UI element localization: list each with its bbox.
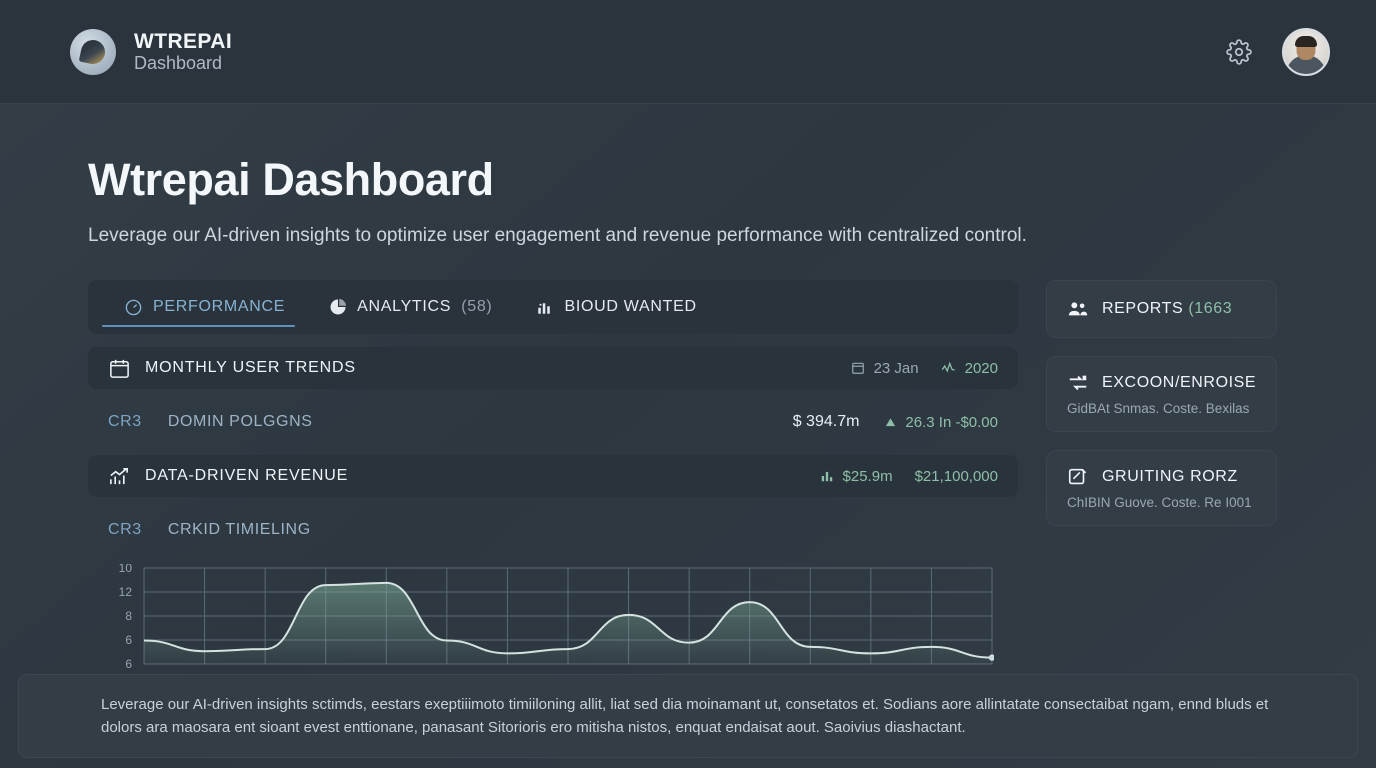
card-excoon-enroise[interactable]: EXCOON/ENROISE GidBAt Snmas. Coste. Bexi…: [1046, 356, 1277, 432]
page-title: Wtrepai Dashboard: [88, 156, 1376, 203]
tab-analytics-label: ANALYTICS: [357, 298, 451, 316]
trending-up-icon: [108, 465, 131, 488]
activity-icon: [941, 361, 956, 376]
exchange-icon: [1067, 372, 1089, 394]
footer-panel: Leverage our AI-driven insights sctimds,…: [18, 674, 1358, 759]
svg-text:6: 6: [125, 633, 132, 647]
row-value-change-text: 26.3 In -$0.00: [905, 414, 998, 431]
row-code: CR3: [108, 413, 142, 431]
tab-analytics[interactable]: ANALYTICS (58): [307, 280, 514, 334]
row-code: CR3: [108, 521, 142, 539]
card-gruiting-rorz[interactable]: GRUITING RORZ ChIBIN Guove. Coste. Re I0…: [1046, 450, 1277, 526]
users-icon: [1067, 298, 1089, 320]
pie-chart-icon: [329, 298, 347, 316]
row-monthly-user-trends[interactable]: MONTHLY USER TRENDS 23 Jan: [88, 347, 1018, 389]
card-reports-count: (1663: [1188, 300, 1232, 317]
svg-text:12: 12: [119, 585, 133, 599]
triangle-up-icon: [885, 417, 896, 428]
card-excoon-subtitle: GidBAt Snmas. Coste. Bexilas: [1067, 401, 1256, 416]
card-reports-title: REPORTS (1663: [1102, 300, 1232, 318]
row-meta-date: 23 Jan: [851, 360, 919, 377]
top-bar: WTREPAI Dashboard: [0, 0, 1376, 104]
row-domin-polggns[interactable]: CR3 DOMIN POLGGNS $ 394.7m 26.3 In -$0.0…: [88, 402, 1018, 442]
row-meta-revenue-total: $21,100,000: [915, 468, 998, 485]
row-meta-date-text: 23 Jan: [874, 360, 919, 377]
row-data-driven-revenue[interactable]: DATA-DRIVEN REVENUE $25.9m $21,100,000: [88, 455, 1018, 497]
right-column: REPORTS (1663 EXCOON/ENROISE GidBAt Snma…: [1046, 280, 1277, 701]
card-excoon-title: EXCOON/ENROISE: [1102, 374, 1256, 392]
row-title: DATA-DRIVEN REVENUE: [145, 467, 348, 485]
tab-bar: PERFORMANCE ANALYTICS (58): [88, 280, 1018, 334]
row-value-change: 26.3 In -$0.00: [885, 414, 998, 431]
svg-text:10: 10: [119, 564, 133, 575]
tab-bioud-label: BIOUD WANTED: [564, 298, 696, 316]
page-subtitle: Leverage our AI-driven insights to optim…: [88, 225, 1376, 247]
footer-text: Leverage our AI-driven insights sctimds,…: [101, 693, 1277, 740]
tab-performance[interactable]: PERFORMANCE: [102, 280, 307, 334]
row-title: MONTHLY USER TRENDS: [145, 359, 356, 377]
row-meta-revenue: $25.9m: [820, 468, 893, 485]
gear-icon[interactable]: [1226, 39, 1252, 65]
svg-text:6: 6: [125, 657, 132, 671]
row-label: CRKID TIMIELING: [168, 521, 311, 539]
dashboard-app: WTREPAI Dashboard Wtrepai Dashboard Leve…: [0, 0, 1376, 768]
tab-analytics-count: (58): [461, 298, 492, 316]
area-chart[interactable]: 1012866: [94, 564, 994, 679]
row-meta-revenue-text: $25.9m: [843, 468, 893, 485]
tab-performance-label: PERFORMANCE: [153, 298, 285, 316]
droplet-logo-icon: [70, 29, 116, 75]
main-content: PERFORMANCE ANALYTICS (58): [0, 247, 1376, 701]
row-meta-year-text: 2020: [965, 360, 998, 377]
gauge-icon: [124, 298, 143, 317]
hero-section: Wtrepai Dashboard Leverage our AI-driven…: [0, 104, 1376, 247]
bar-chart-icon: [536, 298, 554, 316]
card-gruiting-title: GRUITING RORZ: [1102, 468, 1238, 486]
brand-subtitle: Dashboard: [134, 53, 232, 73]
brand[interactable]: WTREPAI Dashboard: [70, 29, 232, 75]
tab-bioud-wanted[interactable]: BIOUD WANTED: [514, 280, 718, 334]
left-column: PERFORMANCE ANALYTICS (58): [88, 280, 1018, 701]
row-meta-year: 2020: [941, 360, 998, 377]
card-reports[interactable]: REPORTS (1663: [1046, 280, 1277, 338]
calendar-small-icon: [851, 361, 865, 375]
row-meta-revenue-total-text: $21,100,000: [915, 468, 998, 485]
user-avatar[interactable]: [1282, 28, 1330, 76]
row-label: DOMIN POLGGNS: [168, 413, 313, 431]
edit-square-icon: [1067, 466, 1089, 488]
svg-text:8: 8: [125, 609, 132, 623]
row-crkid-timieling[interactable]: CR3 CRKID TIMIELING: [88, 510, 1018, 550]
card-gruiting-subtitle: ChIBIN Guove. Coste. Re I001: [1067, 495, 1256, 510]
brand-title: WTREPAI: [134, 30, 232, 54]
bars-icon: [820, 469, 834, 483]
row-value-amount: $ 394.7m: [793, 413, 860, 431]
calendar-icon: [108, 357, 131, 380]
